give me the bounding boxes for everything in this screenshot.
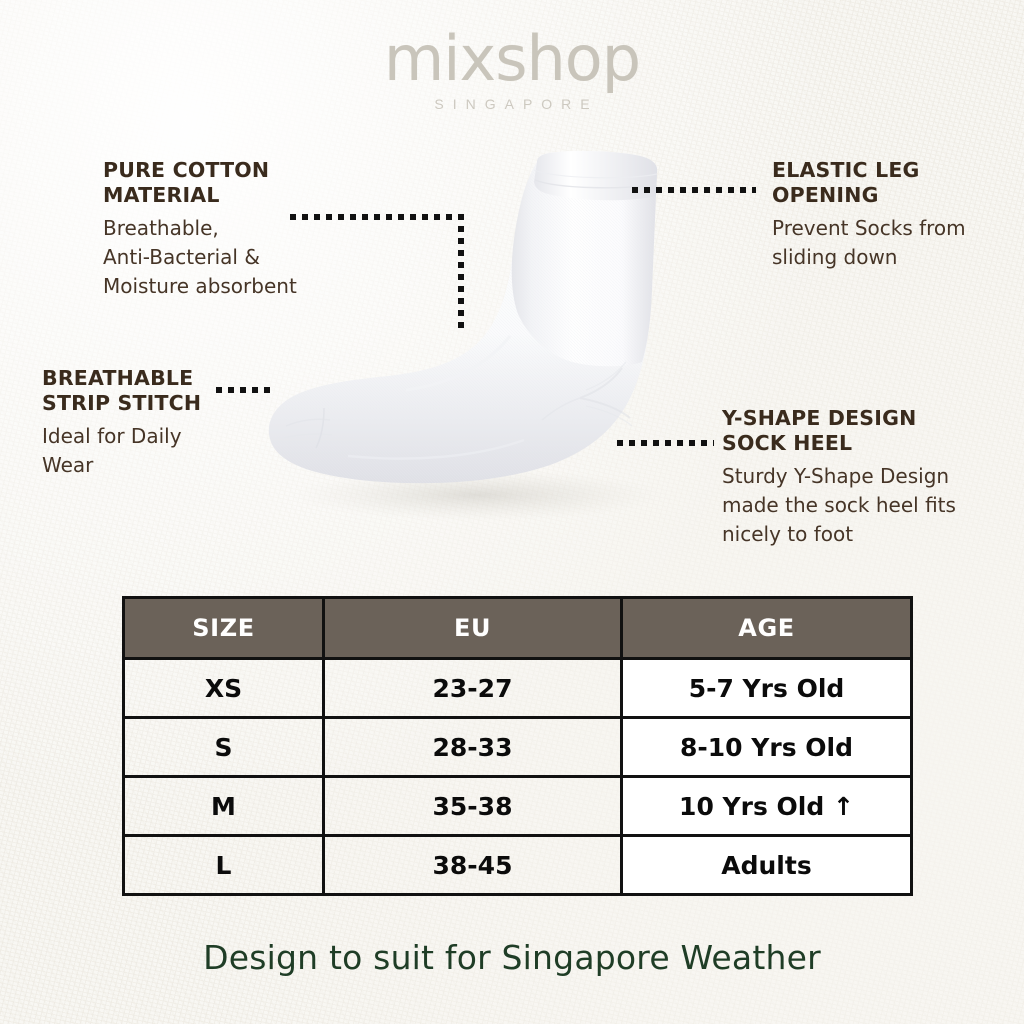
brand-subword: SINGAPORE (0, 96, 1024, 112)
cell-eu: 28-33 (324, 718, 622, 777)
table-row: XS 23-27 5-7 Yrs Old (124, 659, 912, 718)
table-row: L 38-45 Adults (124, 836, 912, 895)
feature-title-pure-cotton: PURE COTTON MATERIAL (103, 158, 353, 208)
cell-eu: 23-27 (324, 659, 622, 718)
brand-logo: mixshop SINGAPORE (0, 28, 1024, 112)
size-chart-table: SIZE EU AGE XS 23-27 5-7 Yrs Old S 28-33… (122, 596, 913, 896)
feature-desc-pure-cotton: Breathable, Anti-Bacterial & Moisture ab… (103, 214, 353, 301)
cell-age: 10 Yrs Old ↑ (622, 777, 912, 836)
feature-title-breathable-strip: BREATHABLE STRIP STITCH (42, 366, 272, 416)
brand-wordmark: mixshop (0, 28, 1024, 90)
cell-size: S (124, 718, 324, 777)
feature-elastic-leg: ELASTIC LEG OPENING Prevent Socks from s… (772, 158, 1012, 272)
feature-desc-breathable-strip: Ideal for Daily Wear (42, 422, 272, 480)
table-row: S 28-33 8-10 Yrs Old (124, 718, 912, 777)
cell-age: Adults (622, 836, 912, 895)
feature-y-shape-heel: Y-SHAPE DESIGN SOCK HEEL Sturdy Y-Shape … (722, 406, 1000, 549)
table-row: M 35-38 10 Yrs Old ↑ (124, 777, 912, 836)
column-header-age: AGE (622, 598, 912, 659)
leader-line-elastic-leg (632, 187, 756, 193)
cell-age: 8-10 Yrs Old (622, 718, 912, 777)
cell-size: XS (124, 659, 324, 718)
feature-desc-elastic-leg: Prevent Socks from sliding down (772, 214, 1012, 272)
feature-pure-cotton: PURE COTTON MATERIAL Breathable, Anti-Ba… (103, 158, 353, 301)
column-header-eu: EU (324, 598, 622, 659)
feature-title-elastic-leg: ELASTIC LEG OPENING (772, 158, 1012, 208)
leader-line-y-shape-heel (617, 440, 714, 446)
table-header-row: SIZE EU AGE (124, 598, 912, 659)
bottom-tagline: Design to suit for Singapore Weather (0, 938, 1024, 977)
leader-line-pure-cotton-vertical (458, 214, 464, 330)
feature-desc-y-shape-heel: Sturdy Y-Shape Design made the sock heel… (722, 462, 1000, 549)
feature-breathable-strip: BREATHABLE STRIP STITCH Ideal for Daily … (42, 366, 272, 480)
feature-title-y-shape-heel: Y-SHAPE DESIGN SOCK HEEL (722, 406, 1000, 456)
infographic-page: mixshop SINGAPORE (0, 0, 1024, 1024)
cell-size: M (124, 777, 324, 836)
cell-eu: 35-38 (324, 777, 622, 836)
cell-size: L (124, 836, 324, 895)
cell-age: 5-7 Yrs Old (622, 659, 912, 718)
cell-eu: 38-45 (324, 836, 622, 895)
column-header-size: SIZE (124, 598, 324, 659)
